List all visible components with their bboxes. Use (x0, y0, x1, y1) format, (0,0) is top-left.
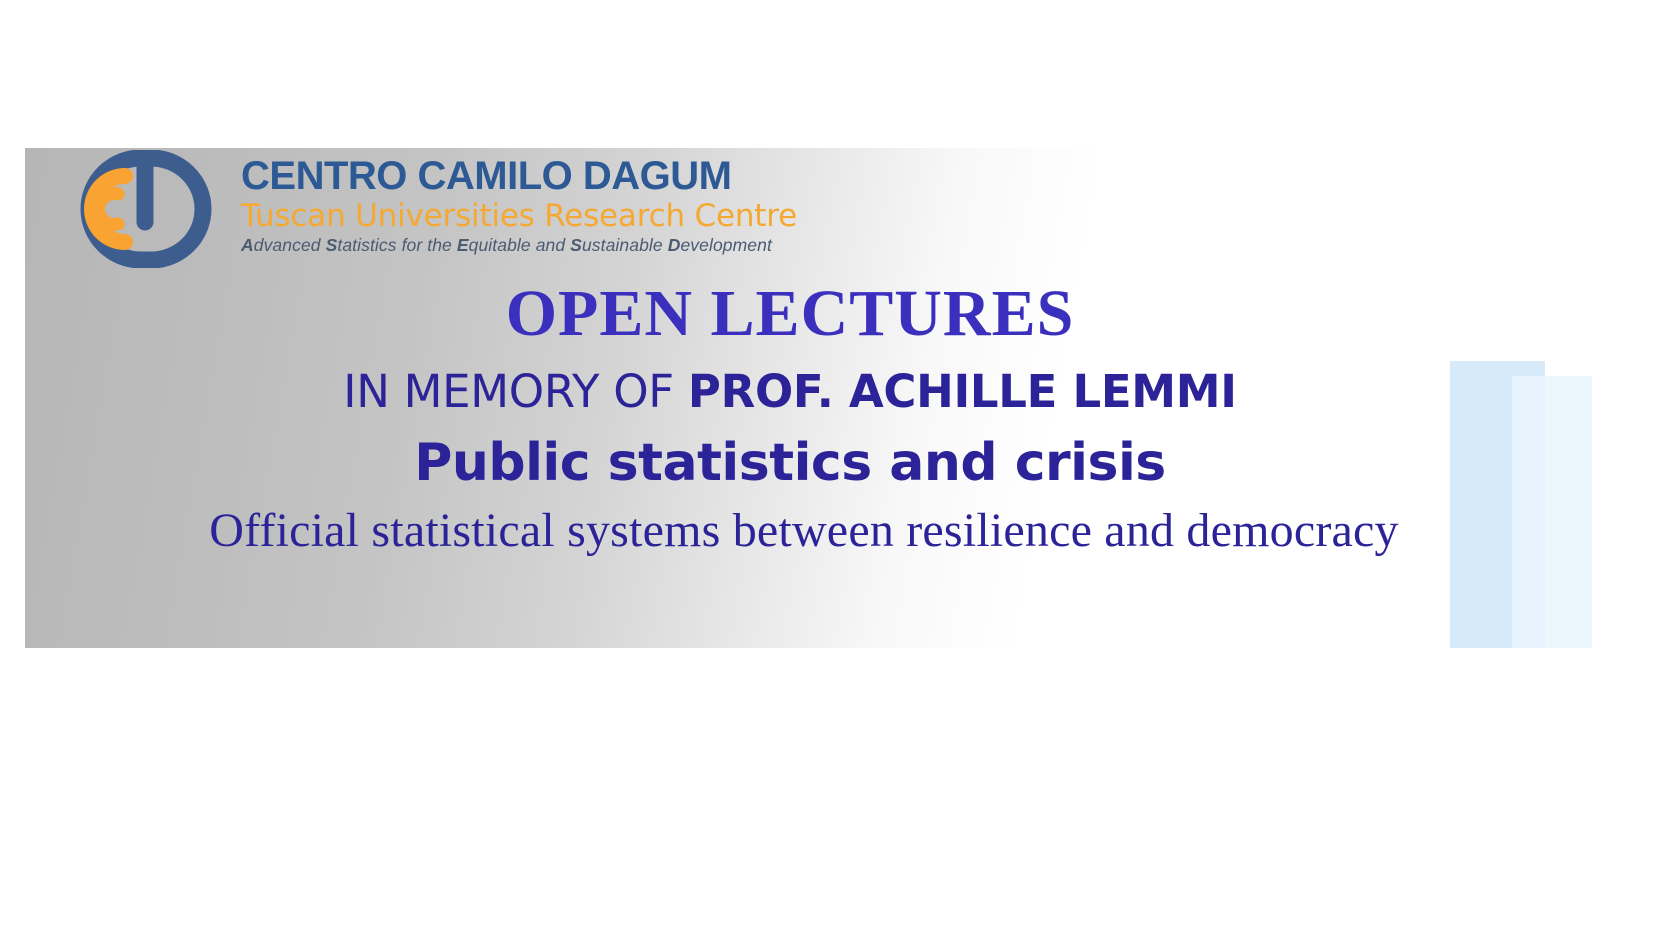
organisation-subtitle: Tuscan Universities Research Centre (241, 198, 861, 234)
organisation-tagline: Advanced Statistics for the Equitable an… (241, 234, 861, 256)
organisation-header: CENTRO CAMILO DAGUM Tuscan Universities … (33, 148, 863, 268)
event-topic: Public statistics and crisis (25, 428, 1555, 498)
event-banner: CENTRO CAMILO DAGUM Tuscan Universities … (25, 148, 1680, 648)
dedication-person: PROF. ACHILLE LEMMI (688, 365, 1237, 418)
event-dedication: IN MEMORY OF PROF. ACHILLE LEMMI (25, 360, 1555, 424)
cd-monogram-logo (33, 150, 233, 268)
event-title: OPEN LECTURES (25, 274, 1555, 354)
event-headline-stack: OPEN LECTURES IN MEMORY OF PROF. ACHILLE… (25, 274, 1555, 562)
brand-text-block: CENTRO CAMILO DAGUM Tuscan Universities … (241, 154, 861, 256)
event-topic-subtitle: Official statistical systems between res… (53, 500, 1555, 562)
dedication-prefix: IN MEMORY OF (343, 365, 688, 418)
organisation-name: CENTRO CAMILO DAGUM (241, 154, 861, 198)
